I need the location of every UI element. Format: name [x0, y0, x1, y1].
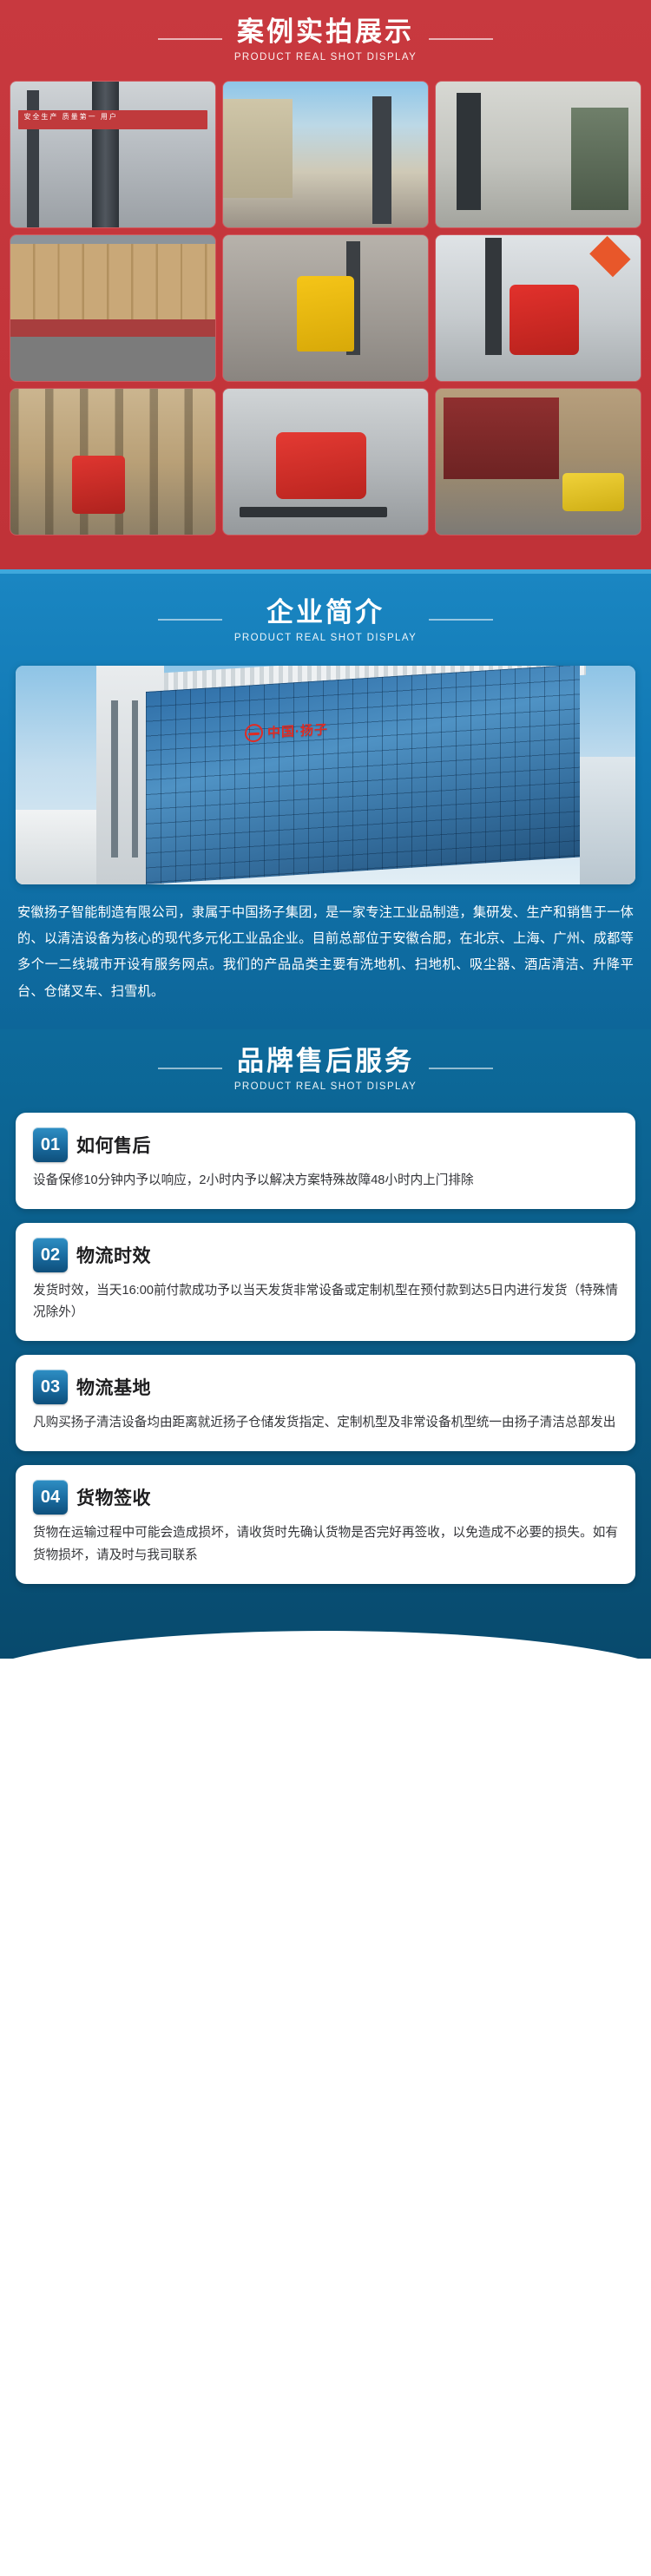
service-card-number: 04 — [33, 1480, 68, 1515]
photo-image-6 — [436, 235, 641, 381]
photo-image-1 — [10, 82, 215, 227]
photo-cell-5[interactable] — [223, 235, 428, 381]
forklift-body — [72, 456, 125, 514]
service-card-title: 如何售后 — [76, 1132, 151, 1158]
company-section: 企业简介 PRODUCT REAL SHOT DISPLAY 中国·扬子 安徽扬… — [0, 569, 651, 1029]
service-card-body: 凡购买扬子清洁设备均由距离就近扬子仓储发货指定、定制机型及非常设备机型统一由扬子… — [33, 1412, 618, 1434]
service-card-body: 发货时效，当天16:00前付款成功予以当天发货非常设备或定制机型在预付款到达5日… — [33, 1280, 618, 1324]
truck-body — [444, 398, 558, 479]
pallet-truck-body — [276, 432, 366, 499]
photo-cell-1[interactable]: 安全生产 质量第一 用户 — [10, 82, 215, 227]
photo-image-9 — [436, 389, 641, 535]
product-detail-page: 案例实拍展示 PRODUCT REAL SHOT DISPLAY 安全生产 质量… — [0, 0, 651, 1659]
showcase-section: 案例实拍展示 PRODUCT REAL SHOT DISPLAY 安全生产 质量… — [0, 0, 651, 569]
photo-image-2 — [223, 82, 428, 227]
service-card-number: 02 — [33, 1238, 68, 1272]
building-logo-text: 中国·扬子 — [267, 720, 328, 741]
pallet-fork — [240, 507, 387, 517]
service-card-body: 设备保修10分钟内予以响应，2小时内予以解决方案特殊故障48小时内上门排除 — [33, 1170, 618, 1192]
divider-line-right — [429, 619, 493, 621]
photo-image-4 — [10, 235, 215, 381]
showcase-title: 案例实拍展示 — [234, 16, 417, 49]
photo-image-5 — [223, 235, 428, 381]
service-card-header: 02 物流时效 — [33, 1238, 618, 1272]
service-title: 品牌售后服务 — [234, 1045, 417, 1078]
photo-cell-8[interactable] — [223, 389, 428, 535]
company-building-photo[interactable]: 中国·扬子 — [16, 666, 635, 884]
service-card-body: 货物在运输过程中可能会造成损坏，请收货时先确认货物是否完好再签收，以免造成不必要… — [33, 1522, 618, 1566]
service-card[interactable]: 01 如何售后 设备保修10分钟内予以响应，2小时内予以解决方案特殊故障48小时… — [16, 1113, 635, 1209]
forklift-body — [297, 276, 354, 352]
service-card-number: 01 — [33, 1127, 68, 1162]
company-header: 企业简介 PRODUCT REAL SHOT DISPLAY — [0, 596, 651, 647]
service-card-header: 04 货物签收 — [33, 1480, 618, 1515]
photo-cell-9[interactable] — [436, 389, 641, 535]
service-card-title: 货物签收 — [76, 1484, 151, 1510]
after-sales-section: 品牌售后服务 PRODUCT REAL SHOT DISPLAY 01 如何售后… — [0, 1029, 651, 1658]
forklift-body — [510, 285, 579, 355]
background-building-right — [580, 757, 635, 884]
company-title: 企业简介 — [234, 596, 417, 629]
service-card-number: 03 — [33, 1370, 68, 1404]
photo-cell-7[interactable] — [10, 389, 215, 535]
divider-line-right — [429, 38, 493, 40]
showcase-photo-grid: 安全生产 质量第一 用户 — [0, 66, 651, 535]
divider-line-left — [158, 619, 222, 621]
service-card-title: 物流时效 — [76, 1242, 151, 1268]
photo-cell-2[interactable] — [223, 82, 428, 227]
company-description: 安徽扬子智能制造有限公司，隶属于中国扬子集团，是一家专注工业品制造，集研发、生产… — [17, 900, 634, 1030]
company-subtitle: PRODUCT REAL SHOT DISPLAY — [234, 633, 417, 643]
photo-banner-text-1: 安全生产 质量第一 用户 — [18, 110, 207, 124]
hazmat-sign-icon — [589, 236, 630, 277]
service-subtitle: PRODUCT REAL SHOT DISPLAY — [234, 1081, 417, 1092]
showcase-subtitle: PRODUCT REAL SHOT DISPLAY — [234, 52, 417, 62]
service-card-header: 01 如何售后 — [33, 1127, 618, 1162]
service-card[interactable]: 03 物流基地 凡购买扬子清洁设备均由距离就近扬子仓储发货指定、定制机型及非常设… — [16, 1355, 635, 1451]
pallet-truck-body — [562, 473, 624, 511]
service-header: 品牌售后服务 PRODUCT REAL SHOT DISPLAY — [0, 1045, 651, 1095]
photo-image-7 — [10, 389, 215, 535]
showcase-header: 案例实拍展示 PRODUCT REAL SHOT DISPLAY — [0, 16, 651, 66]
photo-banner-1: 安全生产 质量第一 用户 — [18, 110, 207, 129]
photo-image-3 — [436, 82, 641, 227]
yangzi-logo-icon — [245, 724, 263, 743]
building-glass-facade — [146, 666, 580, 884]
service-card-header: 03 物流基地 — [33, 1370, 618, 1404]
service-card-list: 01 如何售后 设备保修10分钟内予以响应，2小时内予以解决方案特殊故障48小时… — [0, 1095, 651, 1584]
bottom-curve-decoration — [0, 1631, 651, 1659]
truck-bed — [10, 319, 215, 337]
divider-line-right — [429, 1068, 493, 1069]
service-card-title: 物流基地 — [76, 1374, 151, 1400]
ground — [10, 337, 215, 380]
forklift-mast — [485, 238, 502, 354]
divider-line-left — [158, 1068, 222, 1069]
photo-cell-4[interactable] — [10, 235, 215, 381]
photo-image-8 — [223, 389, 428, 535]
photo-cell-3[interactable] — [436, 82, 641, 227]
photo-cell-6[interactable] — [436, 235, 641, 381]
service-card[interactable]: 04 货物签收 货物在运输过程中可能会造成损坏，请收货时先确认货物是否完好再签收… — [16, 1465, 635, 1583]
service-card[interactable]: 02 物流时效 发货时效，当天16:00前付款成功予以当天发货非常设备或定制机型… — [16, 1223, 635, 1341]
cargo-boxes — [10, 244, 215, 319]
divider-line-left — [158, 38, 222, 40]
